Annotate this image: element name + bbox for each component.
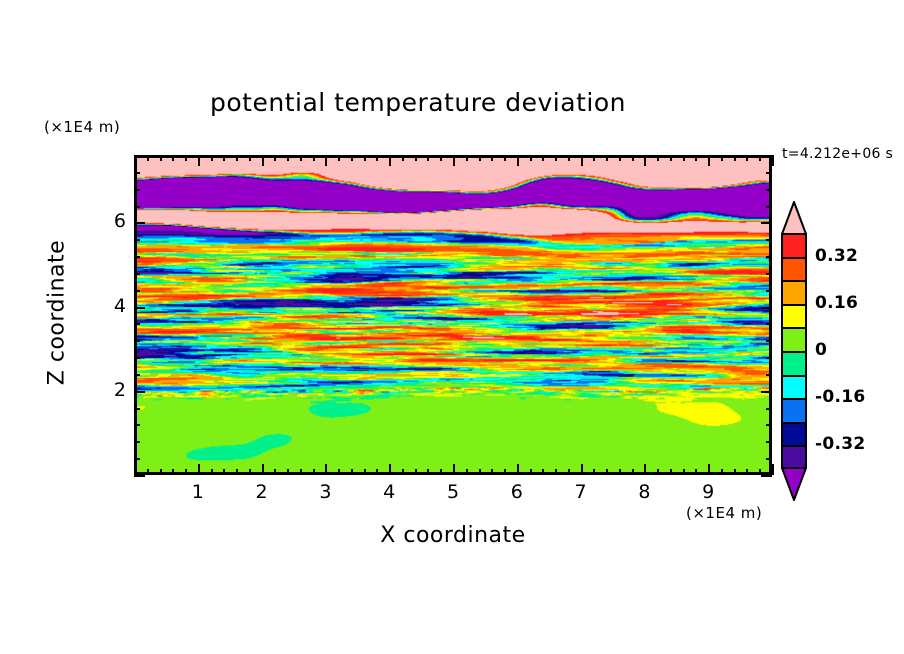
x-tick — [670, 469, 672, 475]
x-tick-top — [632, 155, 634, 161]
y-tick — [134, 172, 140, 174]
colorbar-band — [783, 282, 805, 306]
x-tick-label: 7 — [561, 481, 601, 503]
x-tick-top — [619, 155, 621, 161]
y-axis-title: Z coordinate — [45, 193, 70, 433]
x-tick-top — [351, 155, 353, 161]
y-tick-right — [766, 189, 772, 191]
colorbar-tick-label: -0.32 — [815, 434, 866, 454]
y-tick-right — [766, 424, 772, 426]
y-tick-right — [761, 475, 772, 477]
x-tick — [300, 469, 302, 475]
x-tick-top — [772, 155, 774, 166]
x-tick — [491, 469, 493, 475]
y-tick-right — [766, 323, 772, 325]
x-tick-top — [721, 155, 723, 161]
y-tick — [134, 458, 140, 460]
y-tick-label: 4 — [86, 295, 126, 317]
temperature-deviation-field — [137, 158, 769, 472]
x-tick-top — [274, 155, 276, 161]
colorbar-tick-label: 0 — [815, 340, 827, 360]
x-tick-top — [300, 155, 302, 161]
x-tick-top — [364, 155, 366, 161]
colorbar-band — [783, 353, 805, 377]
y-tick-right — [766, 172, 772, 174]
y-tick — [134, 290, 140, 292]
contour-plot-area[interactable] — [134, 155, 772, 475]
x-tick — [427, 469, 429, 475]
x-tick-top — [670, 155, 672, 161]
x-tick — [734, 469, 736, 475]
x-tick-top — [708, 155, 710, 166]
x-tick-top — [644, 155, 646, 166]
x-tick — [721, 469, 723, 475]
y-tick — [134, 391, 145, 393]
x-tick-top — [415, 155, 417, 161]
y-tick-right — [766, 357, 772, 359]
x-tick-top — [402, 155, 404, 161]
figure-root: potential temperature deviation (×1E4 m)… — [0, 0, 904, 654]
colorbar-under-arrow — [781, 467, 807, 501]
colorbar-over-arrow — [781, 201, 807, 235]
x-tick — [530, 469, 532, 475]
x-tick — [236, 469, 238, 475]
y-tick — [134, 424, 140, 426]
x-tick — [211, 469, 213, 475]
y-tick-right — [766, 256, 772, 258]
y-tick-right — [766, 290, 772, 292]
x-tick-top — [479, 155, 481, 161]
y-tick-right — [766, 374, 772, 376]
x-tick-top — [759, 155, 761, 161]
x-tick-top — [376, 155, 378, 161]
colorbar-tick-label: -0.16 — [815, 387, 866, 407]
x-tick-top — [657, 155, 659, 161]
y-tick-right — [766, 441, 772, 443]
x-tick — [338, 469, 340, 475]
x-tick — [415, 469, 417, 475]
x-tick-top — [530, 155, 532, 161]
colorbar-band — [783, 306, 805, 330]
x-tick-label: 6 — [497, 481, 537, 503]
x-tick-top — [147, 155, 149, 161]
x-tick-top — [313, 155, 315, 161]
x-tick-top — [746, 155, 748, 161]
y-tick — [134, 273, 140, 275]
y-tick-label: 6 — [86, 210, 126, 232]
x-axis-title: X coordinate — [134, 523, 772, 548]
x-tick-top — [223, 155, 225, 161]
x-tick-top — [249, 155, 251, 161]
x-tick — [593, 469, 595, 475]
x-tick — [772, 464, 774, 475]
x-tick — [466, 469, 468, 475]
x-tick-top — [504, 155, 506, 161]
x-tick — [479, 469, 481, 475]
x-tick — [262, 464, 264, 475]
x-tick — [287, 469, 289, 475]
x-tick-top — [491, 155, 493, 161]
x-tick-top — [581, 155, 583, 166]
x-tick — [351, 469, 353, 475]
colorbar-band — [783, 400, 805, 424]
x-tick — [198, 464, 200, 475]
x-tick — [134, 464, 136, 475]
x-tick — [160, 469, 162, 475]
x-tick — [683, 469, 685, 475]
x-tick — [274, 469, 276, 475]
x-tick-top — [466, 155, 468, 161]
x-tick-top — [338, 155, 340, 161]
x-tick — [147, 469, 149, 475]
y-tick-right — [761, 222, 772, 224]
x-tick-top — [325, 155, 327, 166]
x-tick — [517, 464, 519, 475]
x-tick — [364, 469, 366, 475]
x-tick — [325, 464, 327, 475]
x-tick-label: 1 — [178, 481, 218, 503]
y-tick-right — [761, 391, 772, 393]
x-tick — [389, 464, 391, 475]
y-tick — [134, 441, 140, 443]
y-tick — [134, 475, 145, 477]
y-tick-label: 2 — [86, 379, 126, 401]
y-tick-right — [761, 307, 772, 309]
x-tick — [223, 469, 225, 475]
x-tick — [542, 469, 544, 475]
x-tick-top — [683, 155, 685, 161]
x-tick-top — [734, 155, 736, 161]
x-tick-top — [185, 155, 187, 161]
y-tick — [134, 189, 140, 191]
x-tick-label: 9 — [688, 481, 728, 503]
colorbar-bands — [781, 233, 807, 469]
x-tick-top — [172, 155, 174, 161]
x-tick-top — [236, 155, 238, 161]
x-tick — [746, 469, 748, 475]
x-axis-unit-label: (×1E4 m) — [686, 504, 762, 522]
y-tick — [134, 408, 140, 410]
x-tick — [695, 469, 697, 475]
y-tick-right — [766, 340, 772, 342]
colorbar-band — [783, 235, 805, 259]
y-tick — [134, 374, 140, 376]
x-tick — [453, 464, 455, 475]
y-tick-right — [766, 408, 772, 410]
x-tick-top — [593, 155, 595, 161]
x-tick-top — [555, 155, 557, 161]
colorbar-band — [783, 377, 805, 401]
y-tick — [134, 206, 140, 208]
x-tick-top — [287, 155, 289, 161]
x-tick — [185, 469, 187, 475]
x-tick-label: 3 — [305, 481, 345, 503]
colorbar[interactable]: 0.320.160-0.16-0.32 — [781, 201, 807, 501]
x-tick-top — [160, 155, 162, 161]
x-tick-top — [695, 155, 697, 161]
x-tick-top — [606, 155, 608, 161]
x-tick — [568, 469, 570, 475]
x-tick — [708, 464, 710, 475]
y-tick — [134, 155, 140, 157]
x-tick — [606, 469, 608, 475]
y-tick — [134, 239, 140, 241]
y-tick-right — [766, 273, 772, 275]
x-tick — [440, 469, 442, 475]
x-tick-top — [262, 155, 264, 166]
x-tick-top — [542, 155, 544, 161]
colorbar-band — [783, 424, 805, 448]
y-tick-right — [766, 206, 772, 208]
x-tick — [313, 469, 315, 475]
colorbar-band — [783, 259, 805, 283]
y-tick-right — [766, 155, 772, 157]
y-tick — [134, 357, 140, 359]
y-tick-right — [766, 458, 772, 460]
time-annotation: t=4.212e+06 s — [782, 146, 893, 162]
colorbar-band — [783, 329, 805, 353]
colorbar-tick-label: 0.16 — [815, 293, 858, 313]
x-tick — [402, 469, 404, 475]
x-tick — [632, 469, 634, 475]
x-tick — [581, 464, 583, 475]
x-tick-top — [453, 155, 455, 166]
y-tick — [134, 222, 145, 224]
x-tick-top — [198, 155, 200, 166]
x-tick — [376, 469, 378, 475]
x-tick-top — [427, 155, 429, 161]
x-tick — [644, 464, 646, 475]
colorbar-tick-label: 0.32 — [815, 246, 858, 266]
y-tick — [134, 340, 140, 342]
x-tick — [172, 469, 174, 475]
x-tick-label: 4 — [369, 481, 409, 503]
y-axis-unit-label: (×1E4 m) — [44, 118, 120, 136]
x-tick-top — [440, 155, 442, 161]
x-tick-top — [568, 155, 570, 161]
y-tick — [134, 256, 140, 258]
x-tick — [555, 469, 557, 475]
x-tick-top — [389, 155, 391, 166]
x-tick-label: 2 — [242, 481, 282, 503]
x-tick — [657, 469, 659, 475]
x-tick — [249, 469, 251, 475]
x-tick-top — [517, 155, 519, 166]
x-tick-top — [211, 155, 213, 161]
x-tick — [619, 469, 621, 475]
x-tick — [504, 469, 506, 475]
x-tick-label: 8 — [624, 481, 664, 503]
page-title: potential temperature deviation — [0, 88, 836, 117]
y-tick-right — [766, 239, 772, 241]
y-tick — [134, 307, 145, 309]
y-tick — [134, 323, 140, 325]
x-tick-label: 5 — [433, 481, 473, 503]
